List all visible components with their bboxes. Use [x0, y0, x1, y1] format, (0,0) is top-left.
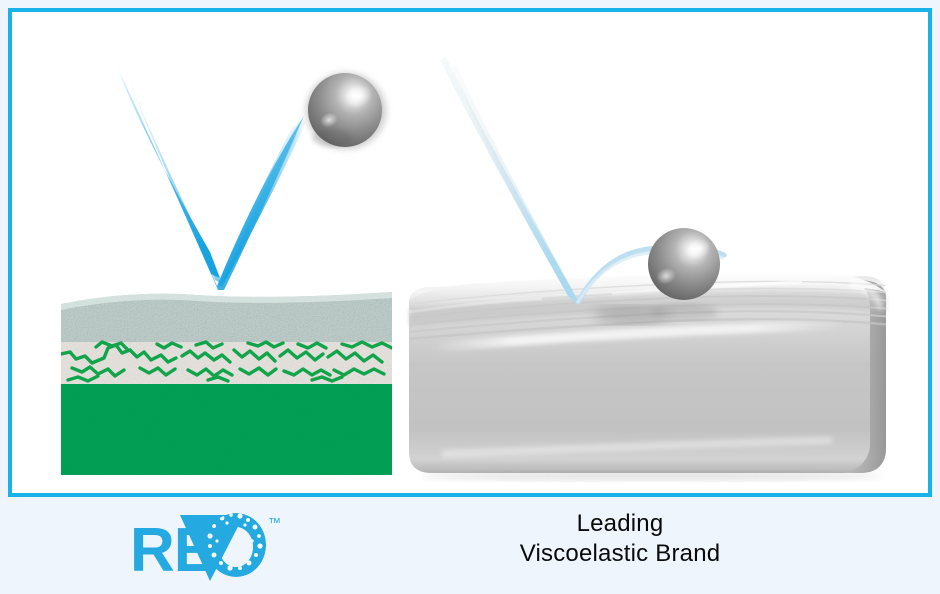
revo-logo-bubble-o-icon [206, 513, 266, 577]
illustration-panel [8, 8, 932, 497]
left-illustration-group [61, 62, 392, 475]
steel-ball-left [306, 73, 386, 149]
comparison-illustration [12, 12, 928, 493]
revo-logo-trademark: ™ [268, 515, 281, 530]
footer-bar: RE [0, 497, 940, 594]
rebound-trail-high [112, 62, 306, 290]
slide-root: RE [0, 0, 940, 594]
right-illustration-group [409, 57, 892, 481]
viscoelastic-mattress [409, 271, 892, 481]
brand-caption: Leading Viscoelastic Brand [470, 509, 770, 569]
caption-line-1: Leading [577, 510, 664, 537]
foam-layer-top [61, 292, 392, 342]
revo-logo: RE [128, 505, 308, 585]
foam-block [61, 292, 392, 475]
foam-layer-middle [61, 342, 392, 386]
revo-logo-mark: RE [128, 505, 308, 585]
caption-line-2: Viscoelastic Brand [470, 539, 770, 569]
illustration-stage [12, 12, 928, 493]
